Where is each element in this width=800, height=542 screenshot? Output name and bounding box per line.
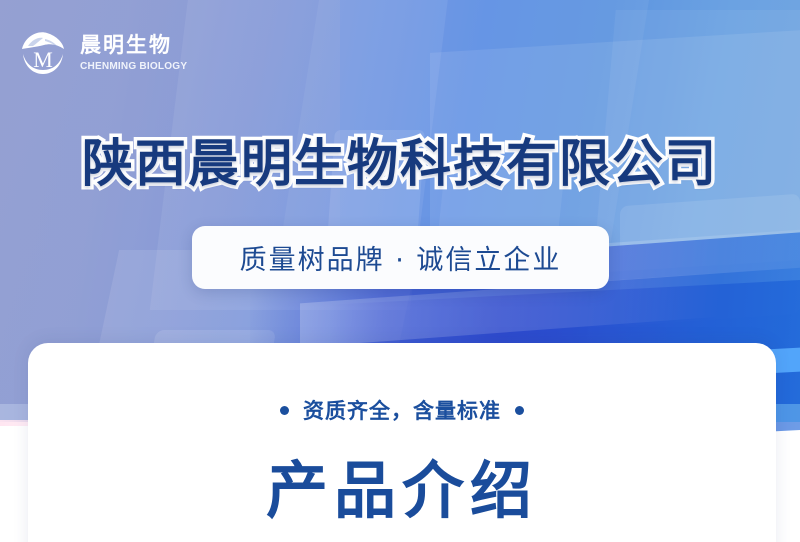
svg-text:M: M (33, 47, 53, 72)
content-panel: 资质齐全，含量标准 产品介绍 (28, 343, 776, 542)
dome-arc-m-logo-icon: M (16, 26, 70, 80)
slogan-text: 质量树品牌 · 诚信立企业 (240, 238, 562, 277)
slogan-pill: 质量树品牌 · 诚信立企业 (192, 226, 609, 289)
dot-icon-left (280, 406, 289, 415)
panel-eyebrow-label: 资质齐全，含量标准 (303, 399, 501, 423)
promo-banner: M 晨明生物 CHENMING BIOLOGY 陕西晨明生物科技有限公司 质量树… (0, 0, 800, 542)
section-title: 产品介绍 (28, 440, 776, 530)
panel-eyebrow: 资质齐全，含量标准 (28, 395, 776, 425)
brand-logo: M 晨明生物 CHENMING BIOLOGY (16, 26, 192, 80)
brand-name-cn: 晨明生物 (80, 35, 192, 56)
brand-name-en: CHENMING BIOLOGY (80, 61, 187, 72)
dot-icon-right (515, 406, 524, 415)
company-title: 陕西晨明生物科技有限公司 (0, 122, 800, 196)
brand-logo-text: 晨明生物 CHENMING BIOLOGY (80, 35, 192, 72)
